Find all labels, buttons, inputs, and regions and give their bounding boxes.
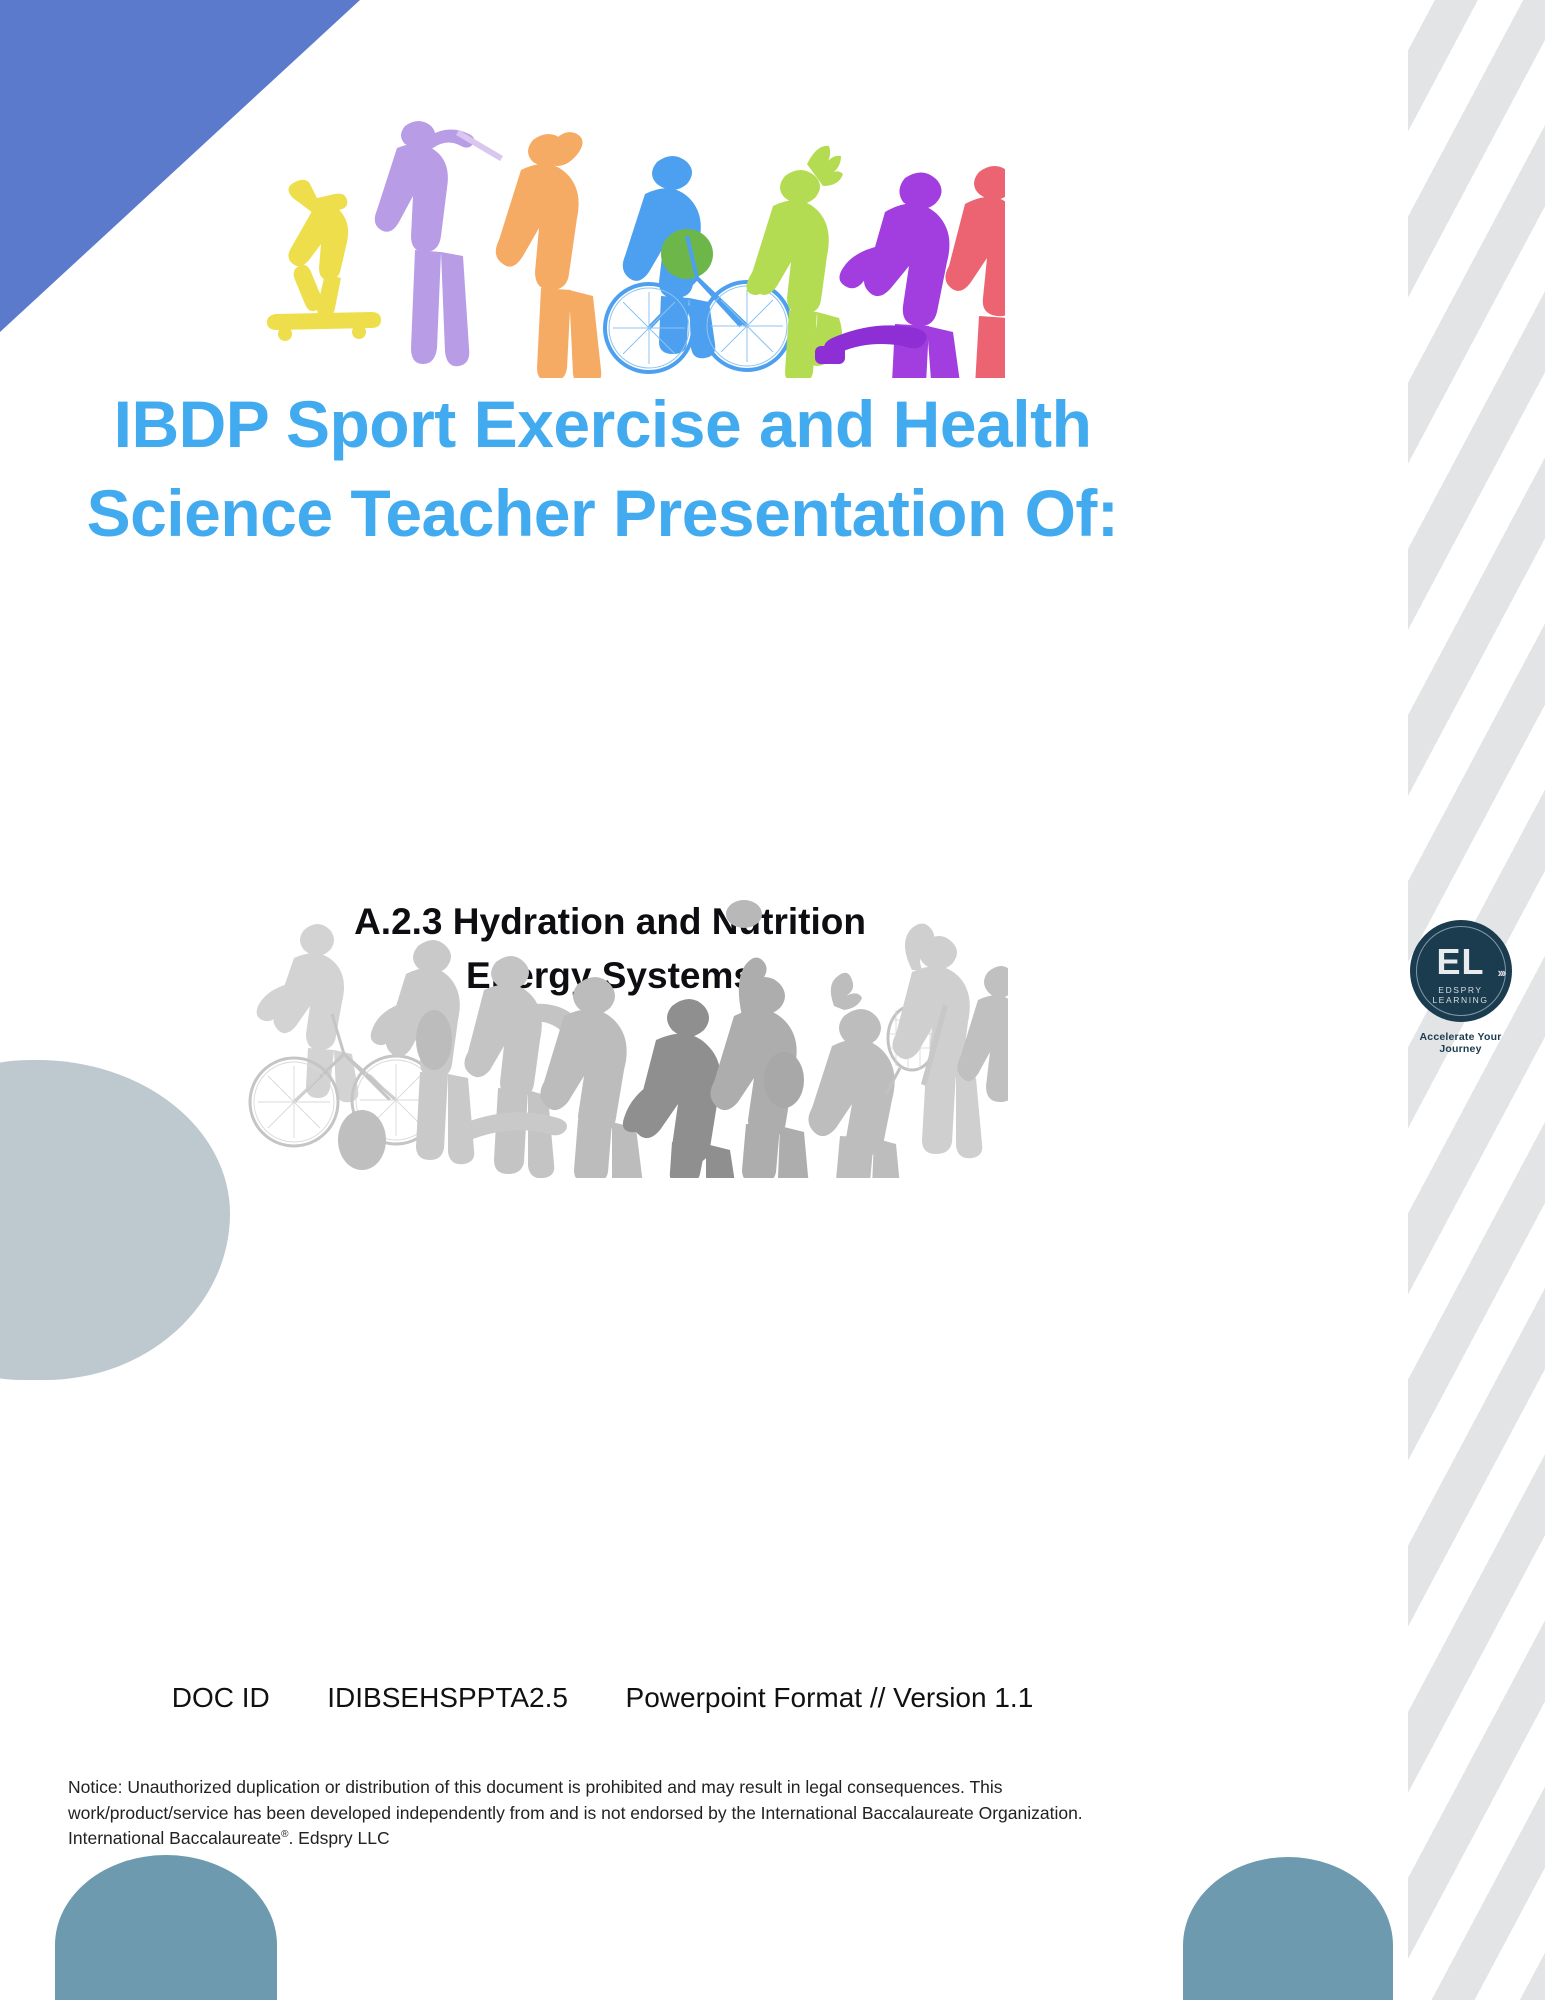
page-title-line-2: Science Teacher Presentation Of: [60,469,1145,558]
doc-id-value: IDIBSEHSPPTA2.5 [327,1682,568,1713]
document-cover-page: IBDP Sport Exercise and Health Science T… [0,0,1545,2000]
chevron-right-icon: ››› [1498,966,1505,979]
notice-line-2: work/product/service has been developed … [68,1801,1098,1827]
page-title-line-1: IBDP Sport Exercise and Health [60,380,1145,469]
edspry-learning-logo: EL ››› EDSPRY LEARNING Accelerate Your J… [1398,920,1523,1055]
notice-line-3-text: International Baccalaureate [68,1828,281,1848]
format-version: Powerpoint Format // Version 1.1 [626,1682,1034,1713]
logo-monogram: EL ››› [1436,944,1484,980]
notice-line-1: Notice: Unauthorized duplication or dist… [68,1775,1098,1801]
logo-tagline: Accelerate Your Journey [1398,1031,1523,1055]
doc-id-label: DOC ID [172,1682,270,1713]
legal-notice: Notice: Unauthorized duplication or dist… [68,1775,1098,1852]
doc-id-row: DOC ID IDIBSEHSPPTA2.5 Powerpoint Format… [60,1682,1145,1714]
bottom-dome-right [1183,1857,1393,2000]
logo-circle: EL ››› EDSPRY LEARNING [1410,920,1512,1022]
bottom-dome-left [55,1855,277,2000]
gray-athletes-illustration [248,888,1008,1178]
page-title: IBDP Sport Exercise and Health Science T… [60,380,1145,558]
notice-line-3-suffix: . Edspry LLC [288,1828,389,1848]
notice-line-3: International Baccalaureate®. Edspry LLC [68,1826,1098,1852]
left-blob-decoration [0,1060,230,1380]
colorful-athletes-illustration [255,78,1005,378]
logo-monogram-text: EL [1436,941,1484,982]
